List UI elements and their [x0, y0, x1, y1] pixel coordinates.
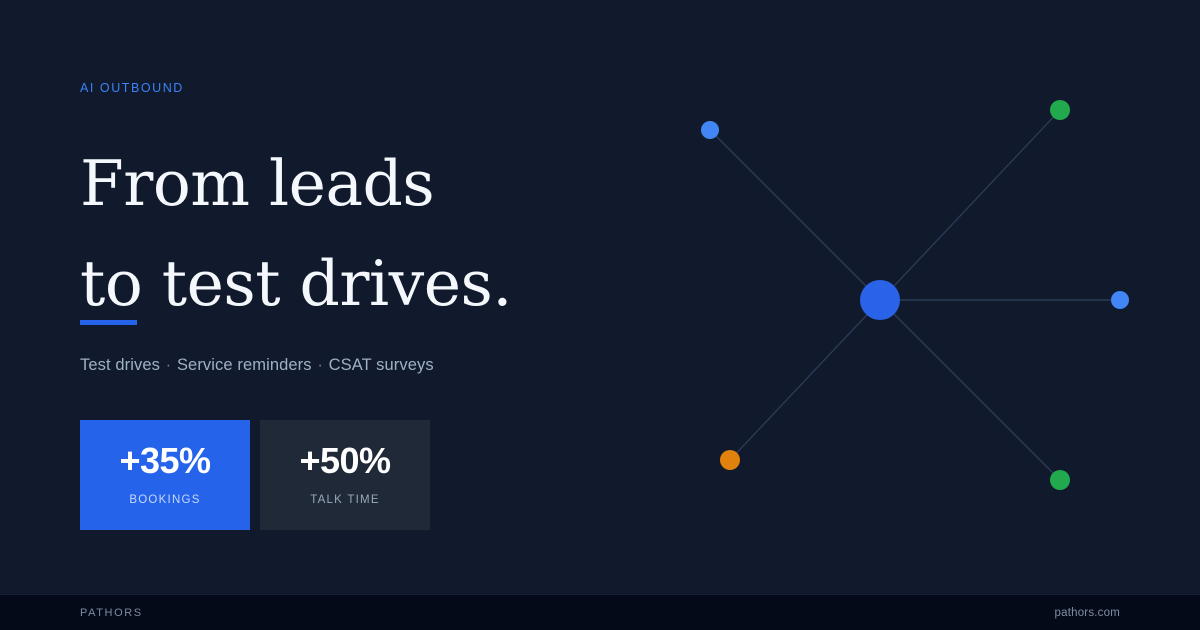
node-top-right-green[interactable] [1050, 100, 1070, 120]
stat-label-talk-time: TALK TIME [310, 495, 380, 507]
node-bottom-right-green[interactable] [1050, 470, 1070, 490]
graph-nodes [701, 100, 1129, 490]
node-top-left-blue[interactable] [701, 121, 719, 139]
subtitle-item-0: Test drives [80, 356, 160, 374]
footer-bar: PATHORS pathors.com [0, 594, 1200, 630]
stat-card-talk-time: +50% TALK TIME [260, 420, 430, 530]
headline-line-2: to test drives. [80, 234, 600, 334]
footer-url[interactable]: pathors.com [1055, 607, 1120, 619]
stat-value-bookings: +35% [119, 443, 210, 479]
stat-card-group: +35% BOOKINGS +50% TALK TIME [80, 420, 430, 530]
graph-edges [710, 110, 1120, 480]
node-bottom-left-orange[interactable] [720, 450, 740, 470]
subtitle-item-1: Service reminders [177, 356, 312, 374]
network-graph-svg [620, 0, 1200, 594]
network-graph [620, 0, 1200, 594]
slide-canvas: AI OUTBOUND From leads to test drives. T… [0, 0, 1200, 630]
footer-brand: PATHORS [80, 607, 143, 619]
page-title: From leads to test drives. [80, 134, 600, 334]
subtitle-separator-0: · [165, 356, 173, 374]
eyebrow-label: AI OUTBOUND [80, 81, 184, 95]
subtitle: Test drives · Service reminders · CSAT s… [80, 356, 434, 375]
headline-line-1: From leads [80, 134, 600, 234]
node-right-blue[interactable] [1111, 291, 1129, 309]
accent-bar [80, 320, 137, 325]
subtitle-item-2: CSAT surveys [329, 356, 434, 374]
stat-label-bookings: BOOKINGS [129, 495, 200, 507]
subtitle-separator-1: · [316, 356, 324, 374]
hub-node[interactable] [860, 280, 900, 320]
edge-bottomleft-to-topright [730, 110, 1060, 460]
stat-value-talk-time: +50% [299, 443, 390, 479]
hero-content: AI OUTBOUND From leads to test drives. T… [80, 0, 600, 630]
stat-card-bookings: +35% BOOKINGS [80, 420, 250, 530]
